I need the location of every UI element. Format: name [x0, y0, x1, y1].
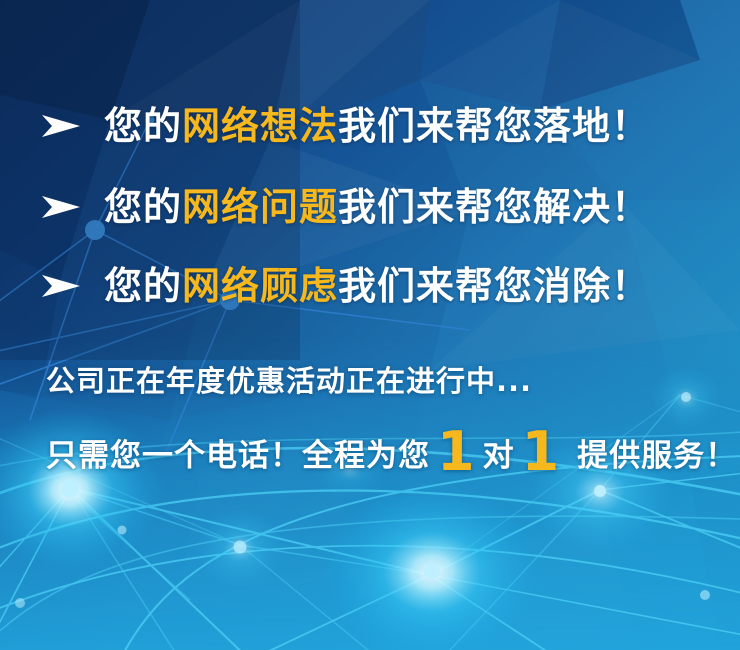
bullet-text-1: 您的网络想法我们来帮您落地！	[104, 104, 650, 148]
bullet-suffix-1: 我们来帮您落地！	[338, 104, 650, 148]
bullet-text-3: 您的网络顾虑我们来帮您消除！	[104, 264, 650, 308]
subtitle-service: 只需您一个电话！全程为您 1 对 1 提供服务！	[46, 424, 737, 480]
service-number-first: 1	[430, 428, 483, 476]
bullet-highlight-2: 网络问题	[182, 185, 338, 229]
service-number-second: 1	[515, 428, 568, 476]
bullet-suffix-2: 我们来帮您解决！	[338, 185, 650, 229]
bullet-row-2: 您的网络问题我们来帮您解决！	[40, 185, 650, 229]
subtitle-promotion: 公司正在年度优惠活动正在进行中...	[46, 362, 532, 400]
bullet-row-3: 您的网络顾虑我们来帮您消除！	[40, 264, 650, 308]
banner-content: 您的网络想法我们来帮您落地！ 您的网络问题我们来帮您解决！ 您的网络顾虑我们来帮…	[0, 0, 740, 650]
bullet-highlight-3: 网络顾虑	[182, 264, 338, 308]
subtitle-service-part-a: 只需您一个电话！全程为您	[46, 432, 430, 480]
service-middle-word: 对	[483, 432, 515, 480]
bullet-prefix-1: 您的	[104, 104, 182, 148]
bullet-highlight-1: 网络想法	[182, 104, 338, 148]
arrow-right-icon	[40, 106, 82, 146]
bullet-prefix-3: 您的	[104, 264, 182, 308]
promo-banner: 您的网络想法我们来帮您落地！ 您的网络问题我们来帮您解决！ 您的网络顾虑我们来帮…	[0, 0, 740, 650]
arrow-right-icon	[40, 187, 82, 227]
subtitle-service-part-b: 提供服务！	[577, 432, 737, 480]
bullet-row-1: 您的网络想法我们来帮您落地！	[40, 104, 650, 148]
bullet-prefix-2: 您的	[104, 185, 182, 229]
bullet-suffix-3: 我们来帮您消除！	[338, 264, 650, 308]
bullet-text-2: 您的网络问题我们来帮您解决！	[104, 185, 650, 229]
arrow-right-icon	[40, 266, 82, 306]
